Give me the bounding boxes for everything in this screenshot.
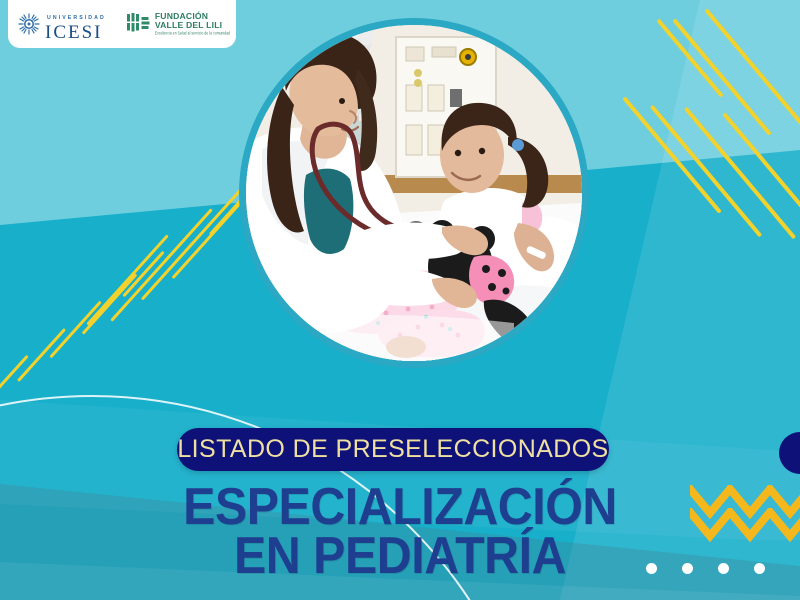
fvl-cross-mark-icon	[126, 12, 151, 36]
icesi-name: ICESI	[45, 22, 103, 43]
preselected-banner-label: LISTADO DE PRESELECCIONADOS	[177, 435, 608, 464]
fvl-line-2: VALLE DEL LILI	[155, 21, 230, 30]
logo-icesi: UNIVERSIDAD ICESI	[18, 7, 106, 42]
logo-fundacion-valle-del-lili: FUNDACIÓN VALLE DEL LILI Excelencia en S…	[126, 12, 230, 36]
page-title: ESPECIALIZACIÓN EN PEDIATRÍA	[28, 483, 772, 581]
pediatrics-photo	[246, 25, 582, 361]
fvl-tagline: Excelencia en Salud al servicio de la co…	[155, 32, 230, 36]
icesi-eyebrow: UNIVERSIDAD	[47, 15, 106, 21]
fvl-wordmark: FUNDACIÓN VALLE DEL LILI Excelencia en S…	[155, 12, 230, 35]
icesi-sun-mark-icon	[18, 13, 40, 35]
preselected-banner: LISTADO DE PRESELECCIONADOS	[177, 428, 609, 471]
logo-card: UNIVERSIDAD ICESI	[8, 0, 236, 48]
page-title-line-1: ESPECIALIZACIÓN	[28, 483, 772, 532]
poster-canvas: UNIVERSIDAD ICESI	[0, 0, 800, 600]
page-title-line-2: EN PEDIATRÍA	[28, 532, 772, 581]
icesi-wordmark: UNIVERSIDAD ICESI	[45, 7, 106, 42]
photo-circle-frame	[239, 18, 589, 368]
